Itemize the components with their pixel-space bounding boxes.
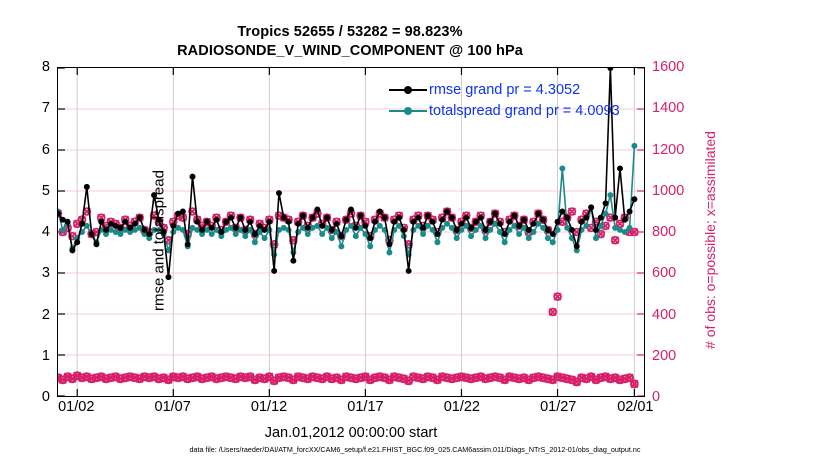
chart-page: Tropics 52655 / 53282 = 98.823% RADIOSON…	[0, 0, 830, 470]
y-tick-right-200: 200	[652, 348, 698, 364]
y-tick-right-800: 800	[652, 224, 698, 240]
x-tick-01-12: 01/12	[251, 399, 287, 415]
legend-item-totalspread: totalspread grand pr = 4.0093	[389, 100, 620, 121]
y-tick-left-3: 3	[16, 265, 50, 281]
y-axis-right-ticks: 02004006008001000120014001600	[652, 67, 702, 397]
y-axis-right-label: # of obs: o=possible; x=assimilated	[702, 75, 718, 405]
y-tick-right-600: 600	[652, 265, 698, 281]
y-tick-left-8: 8	[16, 59, 50, 75]
data-file-caption: data file: /Users/raeder/DAI/ATM_forcXX/…	[0, 445, 830, 454]
y-axis-left-label: rmse and totalspread	[151, 76, 168, 406]
y-axis-left-ticks: 012345678	[10, 67, 50, 397]
y-tick-right-1600: 1600	[652, 59, 698, 75]
y-tick-left-6: 6	[16, 142, 50, 158]
legend-item-rmse: rmse grand pr = 4.3052	[389, 79, 620, 100]
legend-marker-icon	[389, 105, 427, 117]
x-tick-01-27: 01/27	[540, 399, 576, 415]
y-tick-left-0: 0	[16, 389, 50, 405]
chart-title-line1: Tropics 52655 / 53282 = 98.823%	[0, 24, 700, 40]
x-axis-label: Jan.01,2012 00:00:00 start	[57, 425, 645, 441]
y-tick-left-2: 2	[16, 307, 50, 323]
y-tick-right-400: 400	[652, 307, 698, 323]
y-tick-right-0: 0	[652, 389, 698, 405]
x-tick-01-17: 01/17	[347, 399, 383, 415]
y-tick-left-4: 4	[16, 224, 50, 240]
y-tick-right-1200: 1200	[652, 142, 698, 158]
legend-label: totalspread grand pr = 4.0093	[429, 103, 620, 119]
legend-marker-icon	[389, 84, 427, 96]
legend-label: rmse grand pr = 4.3052	[429, 82, 580, 98]
y-tick-left-1: 1	[16, 348, 50, 364]
y-tick-left-7: 7	[16, 100, 50, 116]
x-axis-ticks: 01/0201/0701/1201/1701/2201/2702/01	[57, 399, 645, 419]
y-tick-right-1000: 1000	[652, 183, 698, 199]
chart-legend: rmse grand pr = 4.3052totalspread grand …	[389, 79, 620, 121]
y-tick-left-5: 5	[16, 183, 50, 199]
x-tick-01-22: 01/22	[444, 399, 480, 415]
chart-title-line2: RADIOSONDE_V_WIND_COMPONENT @ 100 hPa	[0, 43, 700, 59]
x-tick-02-01: 02/01	[617, 399, 653, 415]
y-tick-right-1400: 1400	[652, 100, 698, 116]
x-tick-01-02: 01/02	[58, 399, 94, 415]
